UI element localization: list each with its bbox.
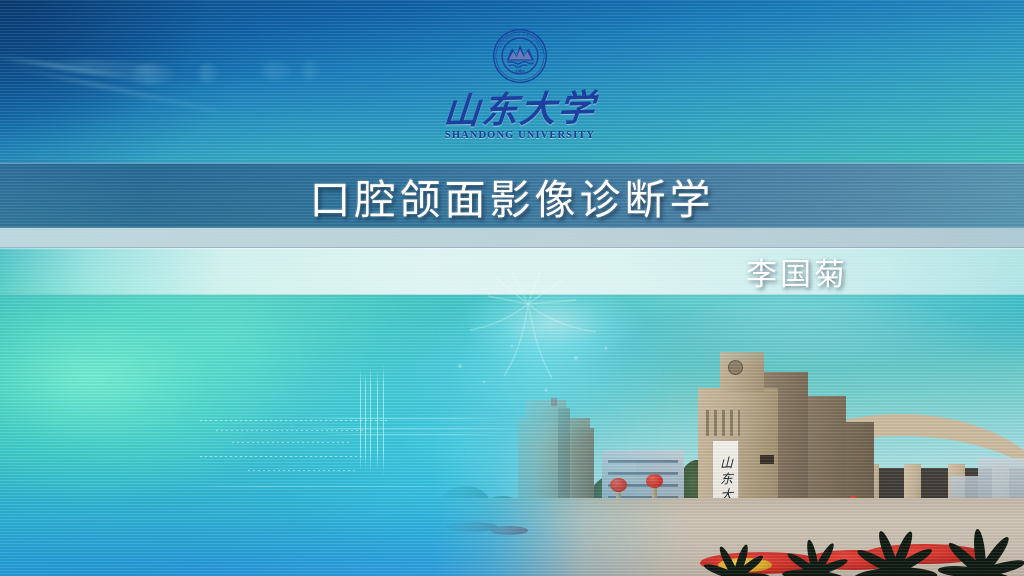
red-lantern (646, 474, 663, 488)
red-lantern (610, 478, 627, 492)
university-seal-icon: 1901 SHANDONG UNIVERSITY (492, 28, 548, 84)
tower-emblem-icon (728, 360, 743, 375)
light-wisp (300, 62, 320, 80)
flower-bed (490, 526, 528, 535)
tech-grid-line (300, 418, 510, 419)
light-wisp (258, 62, 292, 80)
tech-grid-line (290, 428, 530, 429)
tech-grid-line (377, 370, 378, 472)
light-wisp (196, 64, 218, 82)
palm-tree (860, 538, 930, 576)
tech-microtext (216, 430, 366, 431)
university-logo: 1901 SHANDONG UNIVERSITY 山东大学 SHANDONG U… (440, 28, 600, 156)
palm-tree (786, 544, 846, 576)
building-window (608, 472, 678, 475)
main-tower-vent (760, 455, 774, 464)
tech-microtext (232, 442, 352, 443)
light-wisp (128, 64, 174, 84)
tech-grid-line (320, 434, 500, 435)
tech-microtext (200, 420, 390, 421)
lecture-title: 口腔颌面影像诊断学 (0, 163, 1024, 228)
tech-microtext (200, 456, 366, 457)
svg-text:1901: 1901 (515, 69, 526, 75)
divider-band (0, 228, 1024, 248)
slide-canvas: 山东大学 (0, 0, 1024, 576)
tech-microtext (248, 470, 358, 471)
palm-tree (946, 540, 1018, 576)
university-calligraphy: 山东大学 (438, 82, 602, 132)
university-english-name: SHANDONG UNIVERSITY (440, 130, 600, 141)
presenter-name: 李国菊 (0, 248, 1024, 295)
tech-grid-line (170, 486, 470, 487)
palm-tree (706, 548, 766, 576)
